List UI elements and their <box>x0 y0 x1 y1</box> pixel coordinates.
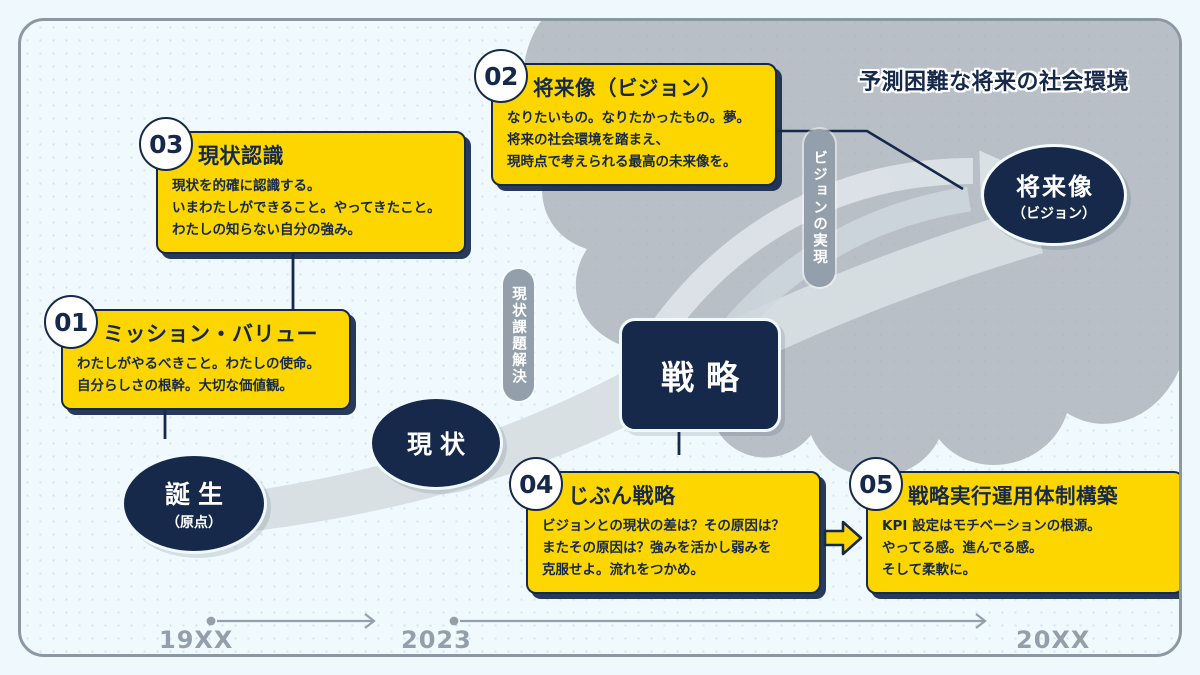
card-header-04: じぶん戦略 <box>568 481 807 511</box>
card-badge-03: 03 <box>139 117 193 171</box>
card-header-02: 将来像（ビジョン） <box>533 73 763 103</box>
card-title-04: じぶん戦略 <box>568 486 676 507</box>
timeline-label-start: 19XX <box>159 626 233 654</box>
card-title-02: 将来像（ビジョン） <box>533 78 722 99</box>
card-body-01: わたしがやるべきこと。わたしの使命。 自分らしさの根幹。大切な価値観。 <box>77 354 337 398</box>
card-header-05: 戦略実行運用体制構築 <box>908 481 1170 511</box>
card-title-05: 戦略実行運用体制構築 <box>908 486 1118 507</box>
cloud-headline: 予測困難な将来の社会環境 <box>859 64 1129 96</box>
node-birth-line2: （原点） <box>166 512 222 532</box>
card-badge-02: 02 <box>474 49 528 103</box>
label-vision-realization: ビジョンの実現 <box>804 129 835 287</box>
node-birth[interactable]: 誕生 （原点） <box>121 453 267 554</box>
card-body-03: 現状を的確に認識する。 いまわたしができること。やってきたこと。 わたしの知らな… <box>172 176 452 242</box>
node-current-state-line1: 現状 <box>399 425 473 461</box>
node-strategy-line1: 戦略 <box>649 351 751 399</box>
card-strategy-execution[interactable]: 05 戦略実行運用体制構築 KPI 設定はモチベーションの根源。 やってる感。進… <box>866 471 1182 594</box>
card-own-strategy[interactable]: 04 じぶん戦略 ビジョンとの現状の差は？その原因は？ またその原因は？強みを活… <box>526 471 821 594</box>
node-future-vision-line1: 将来像 <box>1014 167 1094 202</box>
card-badge-05: 05 <box>849 457 903 511</box>
node-future-vision[interactable]: 将来像 （ビジョン） <box>981 144 1127 246</box>
card-badge-04: 04 <box>509 457 563 511</box>
card-current-recognition[interactable]: 03 現状認識 現状を的確に認識する。 いまわたしができること。やってきたこと。… <box>156 131 466 254</box>
card-badge-01: 01 <box>44 295 98 349</box>
card-future-vision[interactable]: 02 将来像（ビジョン） なりたいもの。なりたかったもの。夢。 将来の社会環境を… <box>491 63 777 186</box>
node-birth-line1: 誕生 <box>157 475 231 511</box>
card-title-01: ミッション・バリュー <box>103 324 318 345</box>
diagram-frame: 19XX 2023 20XX 予測困難な将来の社会環境 現状課題解決 ビジョンの… <box>18 18 1182 657</box>
node-current-state[interactable]: 現状 <box>369 396 503 490</box>
arrow-right-icon <box>821 516 865 560</box>
card-title-03: 現状認識 <box>198 146 284 167</box>
timeline-label-middle: 2023 <box>401 626 472 654</box>
card-header-01: ミッション・バリュー <box>103 319 337 349</box>
label-current-issue-resolution: 現状課題解決 <box>503 269 534 401</box>
card-header-03: 現状認識 <box>198 141 452 171</box>
card-body-05: KPI 設定はモチベーションの根源。 やってる感。進んでる感。 そして柔軟に。 <box>882 516 1170 582</box>
timeline-axis <box>207 614 985 628</box>
infographic-canvas: 19XX 2023 20XX 予測困難な将来の社会環境 現状課題解決 ビジョンの… <box>0 0 1200 675</box>
card-body-04: ビジョンとの現状の差は？その原因は？ またその原因は？強みを活かし弱みを 克服せ… <box>542 516 807 582</box>
timeline-label-end: 20XX <box>1016 626 1090 654</box>
node-future-vision-line2: （ビジョン） <box>1012 203 1096 223</box>
card-body-02: なりたいもの。なりたかったもの。夢。 将来の社会環境を踏まえ、 現時点で考えられ… <box>507 108 763 174</box>
card-mission-value[interactable]: 01 ミッション・バリュー わたしがやるべきこと。わたしの使命。 自分らしさの根… <box>61 309 351 410</box>
node-strategy[interactable]: 戦略 <box>619 318 781 432</box>
